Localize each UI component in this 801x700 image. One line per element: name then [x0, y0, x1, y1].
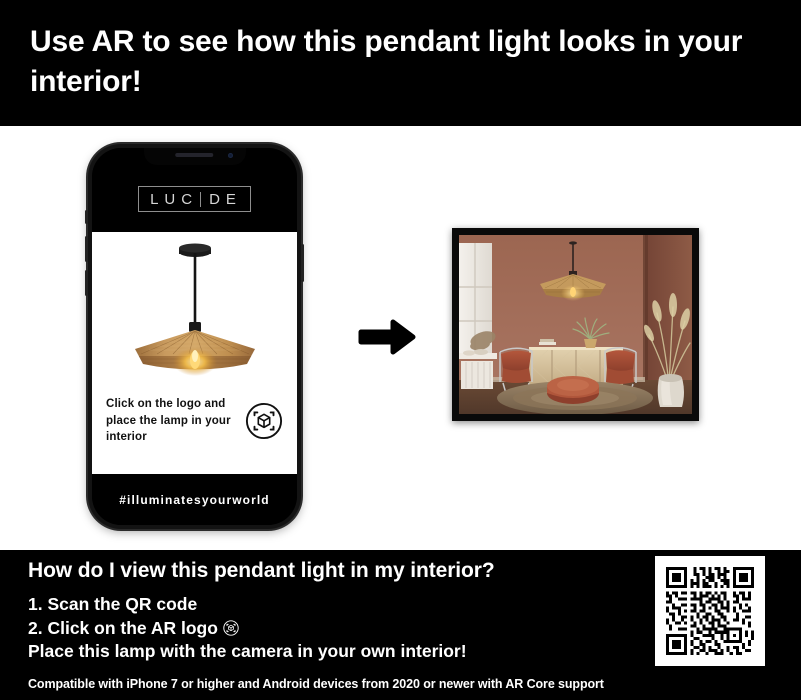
- phone-screen-area: LUC DE: [92, 148, 297, 525]
- brand-hashtag-bar: #illuminatesyourworld: [92, 474, 297, 525]
- arrow-right-icon: [357, 311, 417, 363]
- app-product-screen: Click on the logo and place the lamp in …: [92, 232, 297, 482]
- logo-segment-left: LUC: [141, 192, 201, 207]
- phone-mockup: LUC DE: [88, 144, 301, 529]
- how-to-title: How do I view this pendant light in my i…: [28, 559, 495, 583]
- lucide-logo: LUC DE: [138, 186, 251, 212]
- showcase-panel: LUC DE: [0, 126, 801, 550]
- qr-code-icon[interactable]: [666, 567, 754, 655]
- app-instruction-text: Click on the logo and place the lamp in …: [106, 396, 234, 446]
- front-camera-icon: [228, 153, 233, 158]
- header-banner: Use AR to see how this pendant light loo…: [0, 0, 801, 126]
- page-title: Use AR to see how this pendant light loo…: [30, 22, 785, 102]
- step-item-3: Place this lamp with the camera in your …: [28, 640, 467, 664]
- phone-volume-down-button: [85, 270, 88, 296]
- step-1-label: 1. Scan the QR code: [28, 593, 197, 617]
- qr-code-card[interactable]: [655, 556, 765, 666]
- steps-list: 1. Scan the QR code 2. Click on the AR l…: [28, 593, 467, 664]
- phone-volume-up-button: [85, 236, 88, 262]
- phone-silence-switch: [85, 210, 88, 224]
- compatibility-note: Compatible with iPhone 7 or higher and A…: [28, 677, 604, 691]
- phone-power-button: [301, 244, 304, 282]
- phone-notch: [144, 148, 246, 165]
- step-2-label: 2. Click on the AR logo: [28, 617, 218, 641]
- step-3-label: Place this lamp with the camera in your …: [28, 640, 467, 664]
- hashtag-text: #illuminatesyourworld: [119, 493, 269, 507]
- ar-cube-icon: [223, 620, 239, 636]
- logo-segment-right: DE: [201, 192, 248, 207]
- interior-photo-frame: [452, 228, 699, 421]
- step-item-1: 1. Scan the QR code: [28, 593, 467, 617]
- step-item-2: 2. Click on the AR logo: [28, 617, 467, 641]
- interior-room-photo: [459, 235, 692, 414]
- pendant-light-illustration: [105, 242, 285, 392]
- ar-cube-icon[interactable]: [245, 402, 283, 440]
- earpiece-speaker-icon: [175, 153, 213, 157]
